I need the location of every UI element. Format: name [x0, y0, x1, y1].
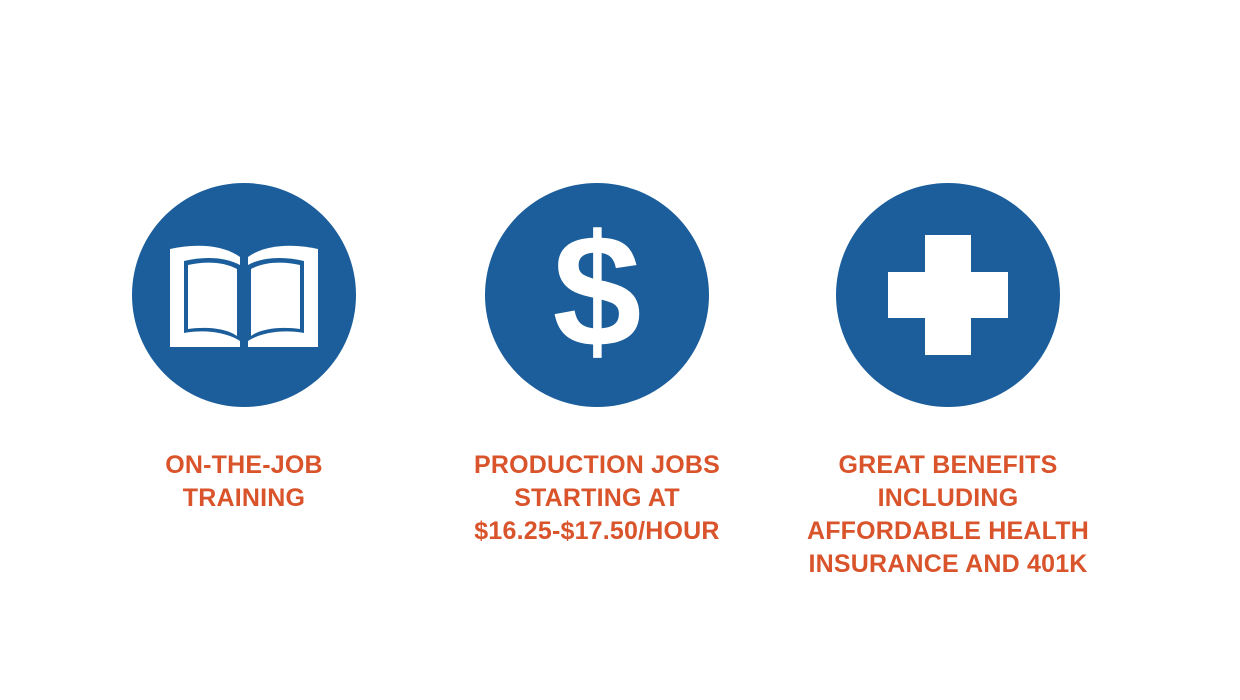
icon-circle-training — [132, 183, 356, 407]
plus-cross-icon — [888, 235, 1008, 355]
dollar-sign-icon: $ — [522, 220, 672, 370]
svg-text:$: $ — [553, 220, 642, 370]
feature-label-benefits: GREAT BENEFITS INCLUDING AFFORDABLE HEAL… — [768, 449, 1128, 581]
icon-circle-wage: $ — [485, 183, 709, 407]
feature-label-wage: PRODUCTION JOBS STARTING AT $16.25-$17.5… — [474, 449, 720, 548]
icon-circle-benefits — [836, 183, 1060, 407]
feature-item-wage: $ PRODUCTION JOBS STARTING AT $16.25-$17… — [447, 183, 747, 548]
feature-item-training: ON-THE-JOB TRAINING — [94, 183, 394, 515]
benefits-infographic: ON-THE-JOB TRAINING $ PRODUCTION JOBS ST… — [0, 0, 1240, 700]
feature-item-benefits: GREAT BENEFITS INCLUDING AFFORDABLE HEAL… — [768, 183, 1128, 581]
feature-row: ON-THE-JOB TRAINING $ PRODUCTION JOBS ST… — [0, 0, 1240, 700]
feature-label-training: ON-THE-JOB TRAINING — [165, 449, 323, 515]
open-book-icon — [166, 235, 322, 355]
